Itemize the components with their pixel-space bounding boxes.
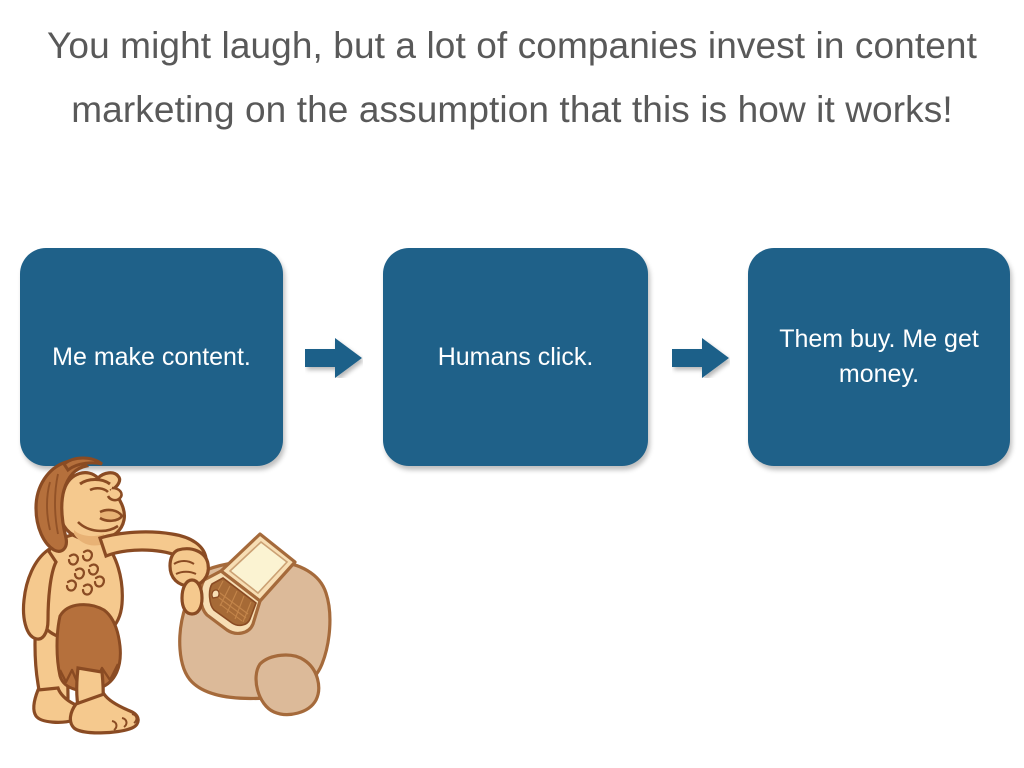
right-arrow-icon-2 <box>672 338 730 378</box>
flow-step-label-2: Humans click. <box>438 340 594 375</box>
flow-step-box-3[interactable]: Them buy. Me get money. <box>748 248 1010 466</box>
rock-small-shape <box>256 655 319 714</box>
flow-step-label-3: Them buy. Me get money. <box>766 322 992 392</box>
right-arrow-icon-1 <box>305 338 363 378</box>
caveman-figure <box>23 458 208 733</box>
caveman-with-laptop-illustration <box>8 438 348 738</box>
process-flow-diagram: Me make content. Humans click. Them buy.… <box>0 248 1024 468</box>
flow-step-box-2[interactable]: Humans click. <box>383 248 648 466</box>
flow-step-box-1[interactable]: Me make content. <box>20 248 283 466</box>
flow-step-label-1: Me make content. <box>52 340 251 375</box>
page-title: You might laugh, but a lot of companies … <box>0 14 1024 142</box>
